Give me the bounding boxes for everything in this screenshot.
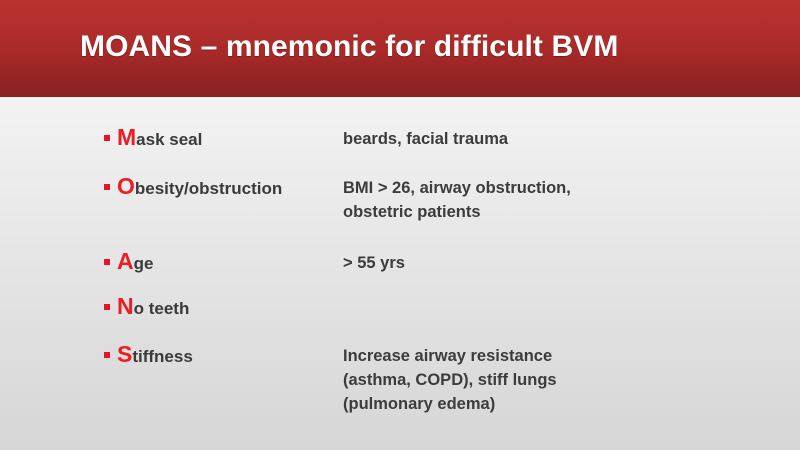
mnemonic-term: No teeth — [104, 294, 342, 321]
term-remainder: besity/obstruction — [135, 179, 282, 198]
mnemonic-term: Age — [104, 249, 342, 276]
term-remainder: o teeth — [134, 299, 190, 318]
square-bullet-icon — [104, 184, 110, 190]
detail-line: obstetric patients — [343, 200, 763, 224]
detail-line: > 55 yrs — [343, 251, 763, 275]
mnemonic-detail: beards, facial trauma — [343, 127, 763, 151]
detail-line: (pulmonary edema) — [343, 392, 763, 416]
title-banner: MOANS – mnemonic for difficult BVM — [0, 0, 800, 97]
mnemonic-detail: Increase airway resistance (asthma, COPD… — [343, 344, 763, 416]
mnemonic-list: Mask seal beards, facial trauma Obesity/… — [0, 97, 800, 450]
term-text: Age — [117, 249, 153, 276]
term-text: Obesity/obstruction — [117, 174, 282, 201]
term-remainder: ask seal — [136, 130, 202, 149]
detail-line: Increase airway resistance — [343, 344, 763, 368]
term-initial: S — [117, 341, 132, 367]
term-text: Stiffness — [117, 342, 193, 369]
term-initial: N — [117, 293, 134, 319]
term-text: Mask seal — [117, 125, 202, 152]
term-initial: A — [117, 248, 134, 274]
term-initial: M — [117, 124, 136, 150]
term-remainder: ge — [134, 254, 154, 273]
page-title: MOANS – mnemonic for difficult BVM — [80, 28, 780, 66]
term-text: No teeth — [117, 294, 189, 321]
square-bullet-icon — [104, 135, 110, 141]
mnemonic-term: Stiffness — [104, 342, 342, 369]
slide: MOANS – mnemonic for difficult BVM Mask … — [0, 0, 800, 450]
detail-line: (asthma, COPD), stiff lungs — [343, 368, 763, 392]
square-bullet-icon — [104, 304, 110, 310]
square-bullet-icon — [104, 259, 110, 265]
square-bullet-icon — [104, 352, 110, 358]
term-remainder: tiffness — [132, 347, 192, 366]
detail-line: BMI > 26, airway obstruction, — [343, 176, 763, 200]
mnemonic-term: Obesity/obstruction — [104, 174, 342, 201]
detail-line: beards, facial trauma — [343, 127, 763, 151]
mnemonic-detail: > 55 yrs — [343, 251, 763, 275]
term-initial: O — [117, 173, 135, 199]
mnemonic-detail: BMI > 26, airway obstruction, obstetric … — [343, 176, 763, 224]
mnemonic-term: Mask seal — [104, 125, 342, 152]
